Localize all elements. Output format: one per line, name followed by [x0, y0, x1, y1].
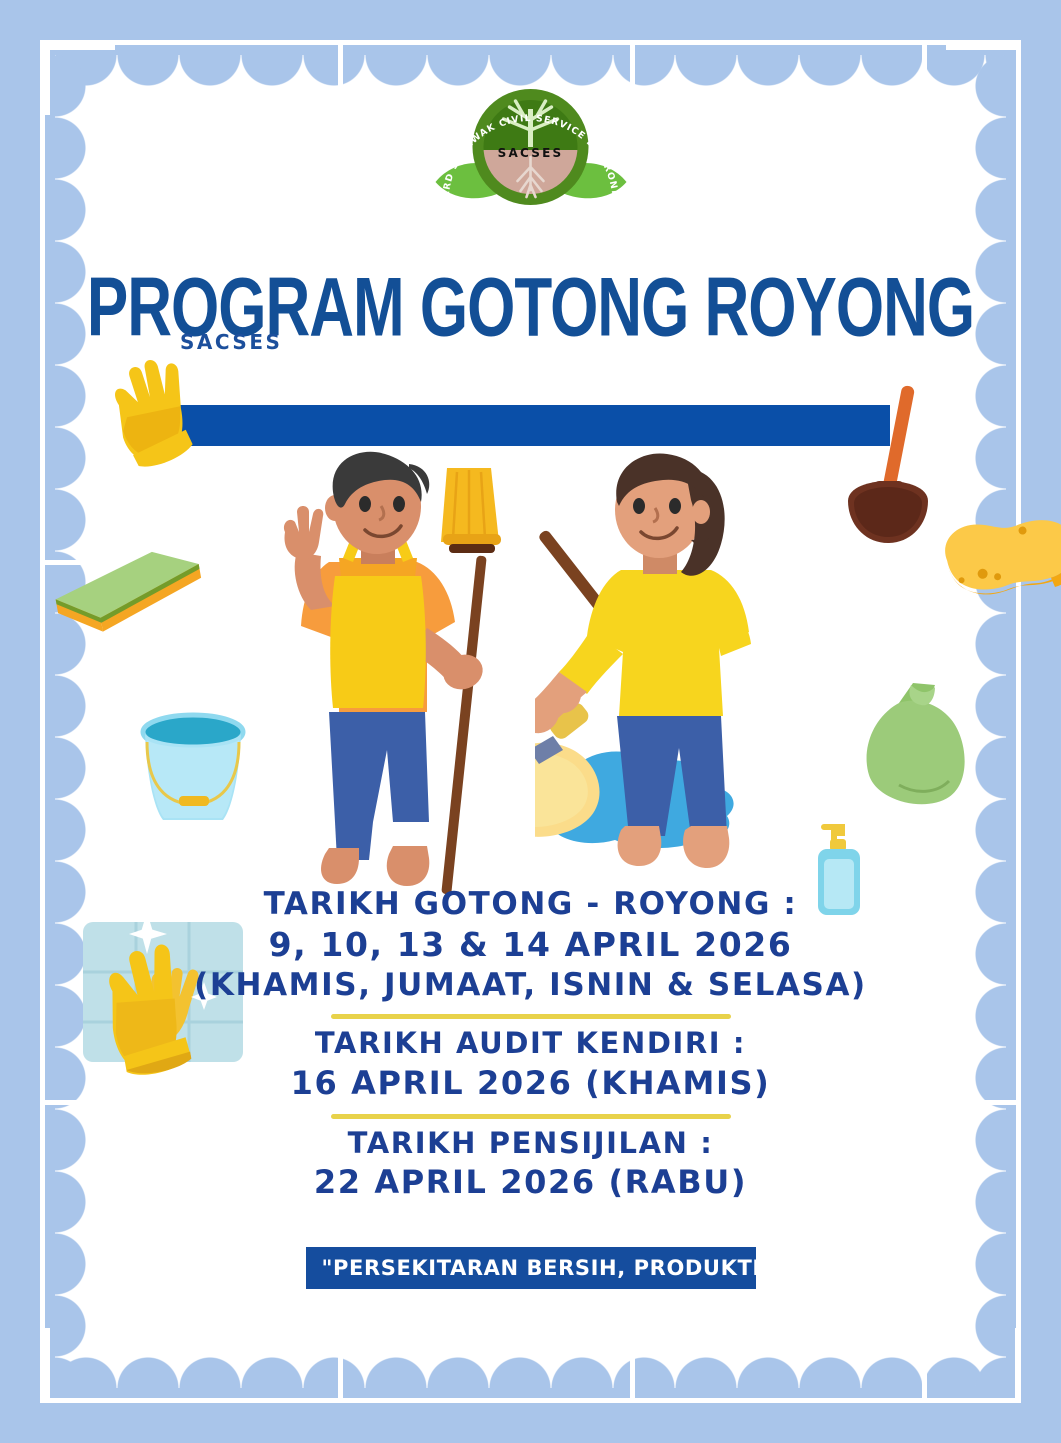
frame-line-bottom — [40, 1398, 1021, 1403]
pensijilan-date: 22 APRIL 2026 (RABU) — [55, 1162, 1006, 1204]
frame-line-top — [40, 40, 1021, 45]
audit-label: TARIKH AUDIT KENDIRI : — [55, 1025, 1006, 1063]
audit-date: 16 APRIL 2026 (KHAMIS) — [55, 1063, 1006, 1105]
perforation-tick — [43, 45, 115, 50]
trash-bag-icon — [855, 675, 985, 820]
figure-boy-with-broom — [277, 450, 577, 910]
gloves-top-left-icon — [93, 351, 213, 481]
blue-highlight-bar — [180, 405, 890, 446]
logo-center-text: SACSES — [497, 146, 563, 160]
dates-block: TARIKH GOTONG - ROYONG : 9, 10, 13 & 14 … — [55, 885, 1006, 1204]
sponge-yellow-icon — [935, 495, 1061, 615]
frame-line-left — [40, 40, 45, 1403]
pensijilan-label: TARIKH PENSIJILAN : — [55, 1125, 1006, 1163]
frame-line-right — [1016, 40, 1021, 1403]
gotong-royong-days: (KHAMIS, JUMAAT, ISNIN & SELASA) — [55, 965, 1006, 1005]
divider-line-2 — [331, 1114, 731, 1119]
poster-content: SACSES STANDARD SARAWAK CIVIL SERVICE EN… — [55, 55, 1006, 1388]
gotong-royong-date: 9, 10, 13 & 14 APRIL 2026 — [55, 924, 1006, 965]
perforation-tick — [45, 43, 50, 115]
divider-line-1 — [331, 1014, 731, 1019]
perforation-tick — [45, 1328, 50, 1400]
gotong-royong-label: TARIKH GOTONG - ROYONG : — [55, 885, 1006, 924]
figure-girl-with-mop — [535, 448, 835, 913]
perforation-tick — [946, 45, 1018, 50]
perforation-tick — [1015, 1328, 1020, 1400]
tagline-banner: "PERSEKITARAN BERSIH, PRODUKTIVITI MENIN… — [306, 1247, 756, 1289]
sponge-green-icon — [30, 540, 210, 645]
bucket-icon — [133, 700, 253, 835]
poster-canvas: SACSES STANDARD SARAWAK CIVIL SERVICE EN… — [0, 0, 1061, 1443]
plunger-icon — [830, 381, 940, 566]
sacses-logo: SACSES STANDARD SARAWAK CIVIL SERVICE EN… — [423, 85, 638, 220]
